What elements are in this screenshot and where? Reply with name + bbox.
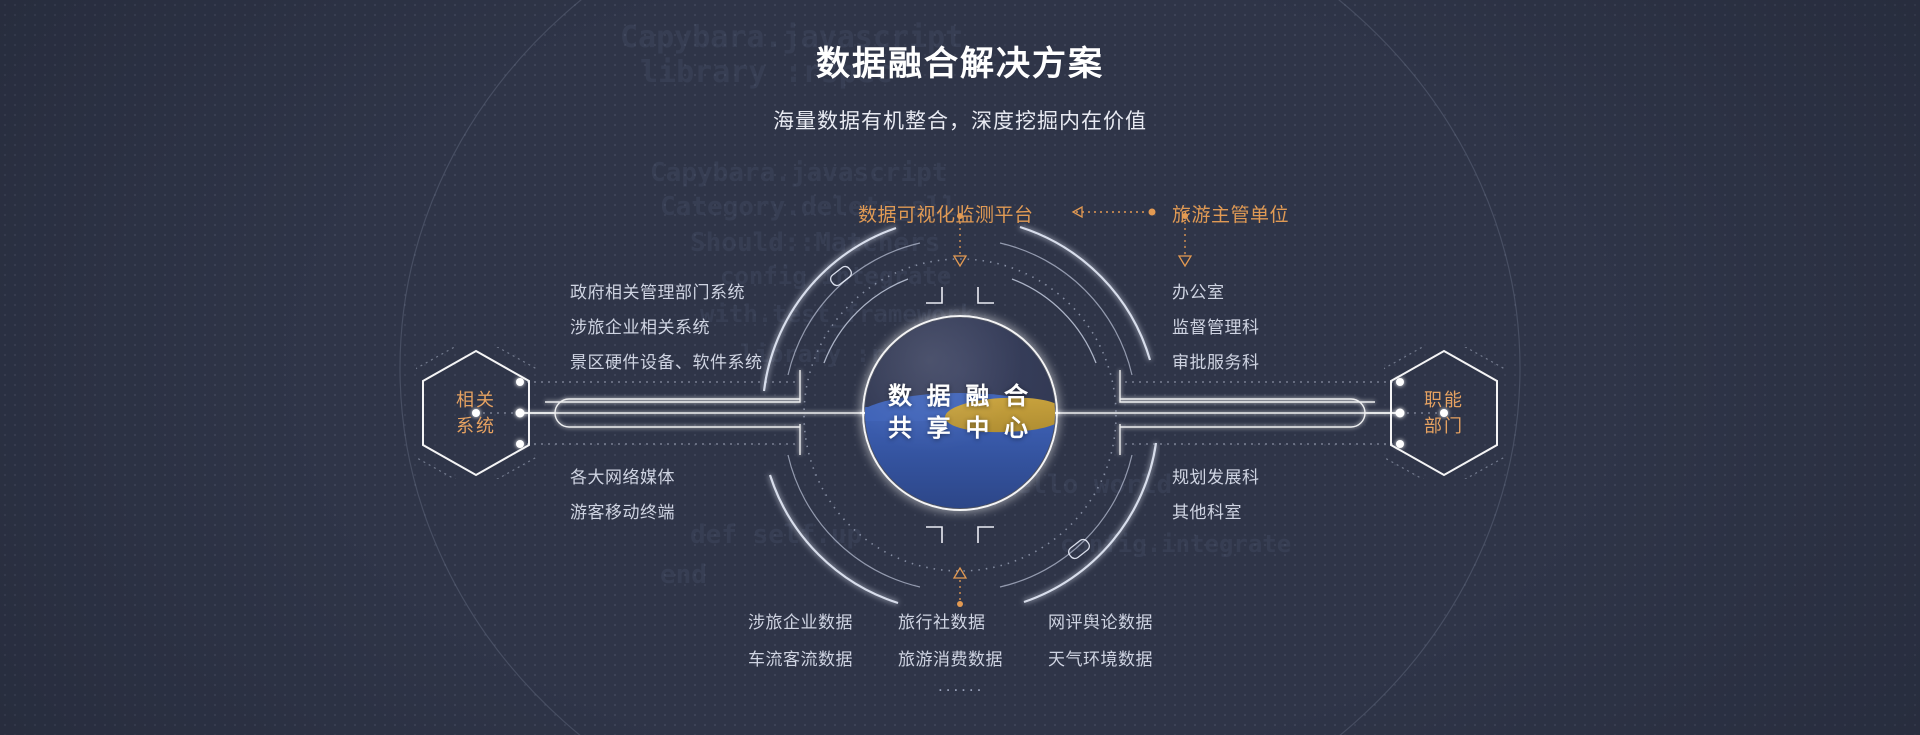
right-hexagon-label: 职能 部门 bbox=[1384, 347, 1504, 479]
sphere-glass-highlight bbox=[865, 318, 1055, 508]
right-hexagon-line2: 部门 bbox=[1424, 413, 1464, 439]
left-hexagon-line1: 相关 bbox=[456, 387, 496, 413]
bottom-item-4[interactable]: 旅游消费数据 bbox=[898, 645, 1003, 670]
bottom-item-5[interactable]: 天气环境数据 bbox=[1048, 645, 1153, 670]
page-subtitle: 海量数据有机整合，深度挖掘内在价值 bbox=[0, 105, 1920, 135]
left-item-3[interactable]: 各大网络媒体 bbox=[570, 463, 675, 488]
right-item-4[interactable]: 其他科室 bbox=[1172, 498, 1242, 523]
bottom-item-3[interactable]: 车流客流数据 bbox=[748, 645, 853, 670]
left-item-0[interactable]: 政府相关管理部门系统 bbox=[570, 278, 745, 303]
left-item-4[interactable]: 游客移动终端 bbox=[570, 498, 675, 523]
right-hexagon-line1: 职能 bbox=[1424, 387, 1464, 413]
left-hexagon-label: 相关 系统 bbox=[416, 347, 536, 479]
right-item-2[interactable]: 审批服务科 bbox=[1172, 348, 1260, 373]
platform-label[interactable]: 数据可视化监测平台 bbox=[858, 200, 1034, 227]
bottom-item-1[interactable]: 旅行社数据 bbox=[898, 608, 986, 633]
right-item-0[interactable]: 办公室 bbox=[1172, 278, 1225, 303]
bottom-ellipsis: ...... bbox=[938, 676, 984, 696]
left-item-1[interactable]: 涉旅企业相关系统 bbox=[570, 313, 710, 338]
bottom-item-0[interactable]: 涉旅企业数据 bbox=[748, 608, 853, 633]
data-fusion-sphere bbox=[865, 318, 1055, 508]
right-hexagon[interactable]: 职能 部门 bbox=[1384, 347, 1504, 479]
page-title: 数据融合解决方案 bbox=[0, 36, 1920, 85]
right-item-3[interactable]: 规划发展科 bbox=[1172, 463, 1260, 488]
right-item-1[interactable]: 监督管理科 bbox=[1172, 313, 1260, 338]
authority-label[interactable]: 旅游主管单位 bbox=[1172, 200, 1289, 227]
infographic-canvas: Capybara.javascript library :rspec Capyb… bbox=[0, 0, 1920, 735]
bottom-item-2[interactable]: 网评舆论数据 bbox=[1048, 608, 1153, 633]
left-hexagon[interactable]: 相关 系统 bbox=[416, 347, 536, 479]
left-hexagon-line2: 系统 bbox=[456, 413, 496, 439]
left-item-2[interactable]: 景区硬件设备、软件系统 bbox=[570, 348, 763, 373]
